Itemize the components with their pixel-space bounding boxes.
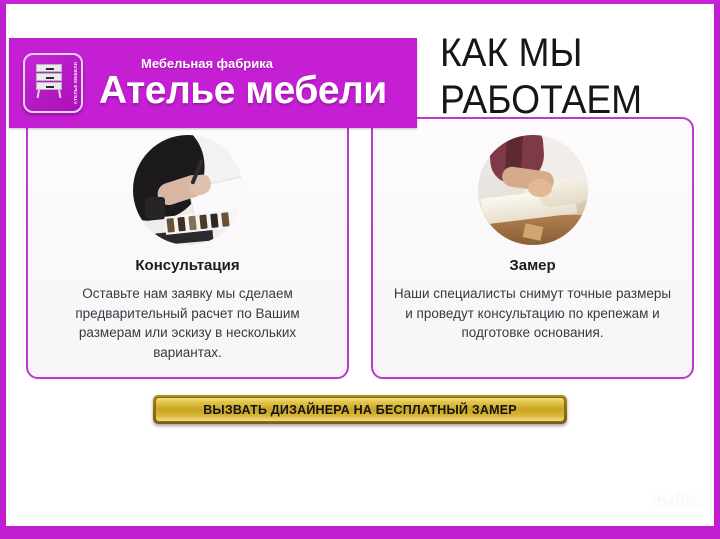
brand-banner: АТЕЛЬЕ МЕБЕЛИ Мебельная фабрика Ателье м… <box>9 38 417 128</box>
cta-container: ВЫЗВАТЬ ДИЗАЙНЕРА НА БЕСПЛАТНЫЙ ЗАМЕР <box>6 395 714 424</box>
avito-watermark: Avito <box>631 488 702 514</box>
dresser-leg <box>58 90 61 98</box>
measurement-photo <box>478 135 588 245</box>
dresser-drawer <box>36 73 62 81</box>
avito-watermark-text: Avito <box>651 488 702 514</box>
dresser-drawer <box>36 82 62 90</box>
card-text: Наши специалисты снимут точные размеры и… <box>389 284 676 343</box>
consultation-photo <box>133 135 243 245</box>
steps-card-list: Консультация Оставьте нам заявку мы сдел… <box>6 109 714 379</box>
furniture-logo-icon: АТЕЛЬЕ МЕБЕЛИ <box>23 53 83 113</box>
dresser-icon <box>36 64 62 98</box>
brand-subtitle: Мебельная фабрика <box>141 57 387 70</box>
brand-name: Ателье мебели <box>99 71 387 110</box>
avito-logo-icon <box>631 494 648 509</box>
call-designer-button[interactable]: ВЫЗВАТЬ ДИЗАЙНЕРА НА БЕСПЛАТНЫЙ ЗАМЕР <box>153 395 567 424</box>
dresser-drawer <box>36 64 62 72</box>
logo-vertical-text: АТЕЛЬЕ МЕБЕЛИ <box>73 62 78 105</box>
card-text: Оставьте нам заявку мы сделаем предварит… <box>44 284 331 362</box>
cta-inner-bevel: ВЫЗВАТЬ ДИЗАЙНЕРА НА БЕСПЛАТНЫЙ ЗАМЕР <box>155 397 565 422</box>
brand-text-block: Мебельная фабрика Ателье мебели <box>99 57 387 110</box>
poster-header: АТЕЛЬЕ МЕБЕЛИ Мебельная фабрика Ателье м… <box>6 4 714 109</box>
card-title: Замер <box>389 257 676 274</box>
card-title: Консультация <box>44 257 331 274</box>
promo-poster: АТЕЛЬЕ МЕБЕЛИ Мебельная фабрика Ателье м… <box>0 0 720 539</box>
cta-label: ВЫЗВАТЬ ДИЗАЙНЕРА НА БЕСПЛАТНЫЙ ЗАМЕР <box>203 403 517 417</box>
dresser-leg <box>37 90 40 98</box>
step-card-measurement: Замер Наши специалисты снимут точные раз… <box>371 117 694 379</box>
page-title: КАК МЫ РАБОТАЕМ <box>440 30 642 124</box>
step-card-consultation: Консультация Оставьте нам заявку мы сдел… <box>26 117 349 379</box>
